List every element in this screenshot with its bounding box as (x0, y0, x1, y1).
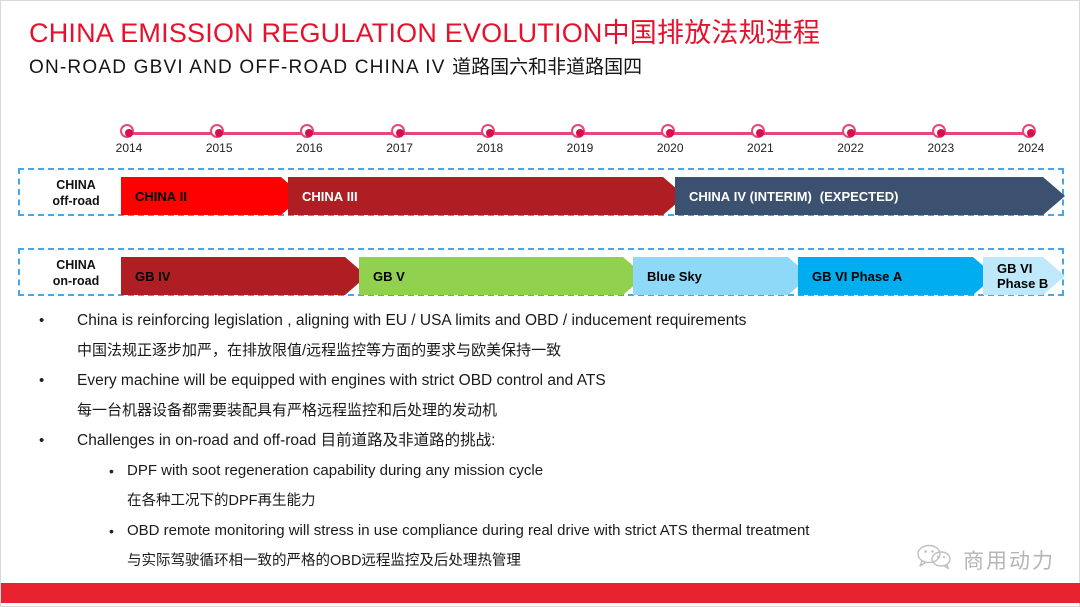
onroad-arrow-0[interactable]: GB IV (121, 257, 367, 295)
bullet-translation: 中国法规正逐步加严，在排放限值/远程监控等方面的要求与欧美保持一致 (1, 336, 1080, 366)
timeline-year-label: 2020 (644, 141, 696, 155)
onroad-arrow-label: GB VIPhase B (983, 261, 1048, 291)
timeline-year-label: 2022 (825, 141, 877, 155)
bullet-text: 中国法规正逐步加严，在排放限值/远程监控等方面的要求与欧美保持一致 (77, 342, 561, 359)
bullet-text: 与实际驾驶循环相一致的严格的OBD远程监控及后处理热管理 (127, 553, 521, 569)
watermark: 商用动力 (915, 542, 1055, 577)
timeline-dot-icon (571, 124, 585, 138)
timeline-year-label: 2023 (915, 141, 967, 155)
bullet-marker-icon: • (109, 516, 114, 546)
bullet-marker-icon: • (39, 306, 44, 336)
bullet-text: 在各种工况下的DPF再生能力 (127, 493, 316, 509)
timeline-year-label: 2019 (554, 141, 606, 155)
onroad-arrow-3[interactable]: GB VI Phase A (798, 257, 995, 295)
timeline-dot-icon (751, 124, 765, 138)
offroad-arrow-1[interactable]: CHINA III (288, 177, 685, 215)
bullet-text: Every machine will be equipped with engi… (77, 372, 606, 389)
timeline-dot-icon (481, 124, 495, 138)
bullet-text: OBD remote monitoring will stress in use… (127, 522, 809, 539)
bullet-marker-icon: • (109, 456, 114, 486)
onroad-arrow-4[interactable]: GB VIPhase B (983, 257, 1065, 295)
onroad-arrow-2[interactable]: Blue Sky (633, 257, 810, 295)
bullet-item: •China is reinforcing legislation , alig… (1, 306, 1080, 336)
timeline-dot-icon (1022, 124, 1036, 138)
bottom-accent-bar (1, 583, 1080, 603)
offroad-arrow-label: CHINA III (288, 189, 358, 204)
bullet-item: •Every machine will be equipped with eng… (1, 366, 1080, 396)
offroad-arrow-0[interactable]: CHINA II (121, 177, 303, 215)
page-subtitle-en: ON-ROAD GBVI AND OFF-ROAD CHINA IV (29, 57, 452, 78)
bullet-translation: 每一台机器设备都需要装配具有严格远程监控和后处理的发动机 (1, 396, 1080, 426)
timeline-year-label: 2017 (374, 141, 426, 155)
bullet-translation: 在各种工况下的DPF再生能力 (1, 486, 1080, 516)
wechat-icon (915, 542, 955, 577)
timeline-dot-icon (932, 124, 946, 138)
timeline-dot-icon (300, 124, 314, 138)
timeline-dot-icon (120, 124, 134, 138)
bullet-text: DPF with soot regeneration capability du… (127, 462, 543, 479)
onroad-arrow-row: GB IVGB VBlue SkyGB VI Phase AGB VIPhase… (20, 250, 1066, 294)
timeline-year-label: 2016 (283, 141, 335, 155)
timeline-dot-icon (842, 124, 856, 138)
bullet-text: China is reinforcing legislation , align… (77, 312, 746, 329)
onroad-band: CHINA on-road GB IVGB VBlue SkyGB VI Pha… (18, 248, 1064, 296)
bullet-item: •DPF with soot regeneration capability d… (1, 456, 1080, 486)
onroad-arrow-label: GB V (359, 269, 405, 284)
offroad-arrow-label-italic: (EXPECTED) (812, 189, 899, 204)
timeline-year-label: 2015 (193, 141, 245, 155)
timeline-year-label: 2021 (734, 141, 786, 155)
bullet-text: Challenges in on-road and off-road 目前道路及… (77, 432, 495, 449)
watermark-text: 商用动力 (963, 545, 1055, 575)
timeline-year-label: 2014 (103, 141, 155, 155)
onroad-arrow-label: GB VI Phase A (798, 269, 902, 284)
offroad-arrow-label: CHINA IV (INTERIM) (675, 189, 812, 204)
timeline-dot-icon (391, 124, 405, 138)
timeline-dot-icon (210, 124, 224, 138)
onroad-arrow-label: GB IV (121, 269, 170, 284)
offroad-arrow-2[interactable]: CHINA IV (INTERIM)(EXPECTED) (675, 177, 1065, 215)
bullet-text: 每一台机器设备都需要装配具有严格远程监控和后处理的发动机 (77, 402, 497, 419)
bullet-list: •China is reinforcing legislation , alig… (1, 306, 1080, 576)
onroad-arrow-1[interactable]: GB V (359, 257, 645, 295)
page-subtitle-cn: 道路国六和非道路国四 (452, 57, 642, 78)
bullet-item: •Challenges in on-road and off-road 目前道路… (1, 426, 1080, 456)
offroad-arrow-label: CHINA II (121, 189, 187, 204)
page-subtitle: ON-ROAD GBVI AND OFF-ROAD CHINA IV 道路国六和… (29, 56, 642, 80)
onroad-arrow-label: Blue Sky (633, 269, 702, 284)
timeline-year-label: 2024 (1005, 141, 1057, 155)
timeline: 2014201520162017201820192020202120222023… (1, 119, 1080, 161)
page-title: CHINA EMISSION REGULATION EVOLUTION中国排放法… (29, 17, 820, 49)
timeline-year-label: 2018 (464, 141, 516, 155)
bullet-marker-icon: • (39, 366, 44, 396)
offroad-band: CHINA off-road CHINA IICHINA IIICHINA IV… (18, 168, 1064, 216)
timeline-dot-icon (661, 124, 675, 138)
bullet-marker-icon: • (39, 426, 44, 456)
offroad-arrow-row: CHINA IICHINA IIICHINA IV (INTERIM)(EXPE… (20, 170, 1066, 214)
slide-canvas: CHINA EMISSION REGULATION EVOLUTION中国排放法… (1, 1, 1079, 606)
